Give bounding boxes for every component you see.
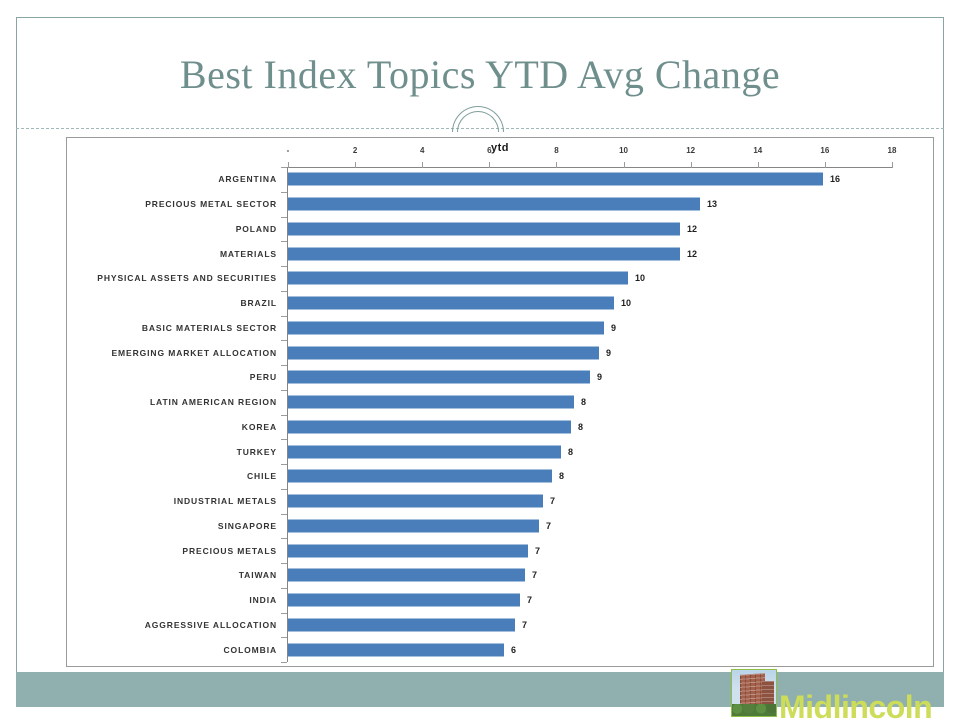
bar — [288, 247, 680, 260]
y-axis-tick — [281, 365, 287, 366]
bar-value-label: 9 — [597, 372, 602, 382]
y-axis-tick — [281, 390, 287, 391]
brand-name: Midlincoln — [779, 691, 932, 720]
category-label: EMERGING MARKET ALLOCATION — [111, 348, 277, 358]
bar — [288, 618, 515, 631]
category-label: BRAZIL — [240, 298, 277, 308]
bar-value-label: 8 — [578, 422, 583, 432]
x-axis-tick-label: 6 — [487, 146, 491, 155]
x-axis-tick-label: 16 — [820, 146, 829, 155]
bar-value-label: 6 — [511, 645, 516, 655]
x-axis-tick — [825, 162, 826, 168]
y-axis-line — [287, 167, 288, 662]
page-title: Best Index Topics YTD Avg Change — [180, 51, 780, 98]
bar — [288, 297, 614, 310]
x-axis-tick-label: 14 — [753, 146, 762, 155]
x-axis-tick — [556, 162, 557, 168]
y-axis-tick — [281, 217, 287, 218]
bar — [288, 445, 561, 458]
category-label: INDIA — [249, 595, 277, 605]
bar-value-label: 13 — [707, 199, 717, 209]
bar-value-label: 10 — [621, 298, 631, 308]
x-axis-tick — [489, 162, 490, 168]
y-axis-tick — [281, 662, 287, 663]
slide-canvas: Best Index Topics YTD Avg Change ytd -24… — [0, 0, 960, 720]
category-label: PRECIOUS METAL SECTOR — [145, 199, 277, 209]
building-photo-icon — [731, 669, 777, 717]
bar-value-label: 9 — [611, 323, 616, 333]
category-label: INDUSTRIAL METALS — [174, 496, 277, 506]
category-label: PERU — [250, 372, 277, 382]
bar — [288, 544, 528, 557]
category-label: LATIN AMERICAN REGION — [150, 397, 277, 407]
bar-value-label: 12 — [687, 224, 697, 234]
chart-plot-area: -24681012141618ARGENTINA16PRECIOUS METAL… — [67, 138, 933, 666]
y-axis-tick — [281, 316, 287, 317]
bar — [288, 519, 539, 532]
bar-value-label: 7 — [535, 546, 540, 556]
bar — [288, 396, 574, 409]
bar — [288, 420, 571, 433]
category-label: TAIWAN — [239, 570, 277, 580]
bar — [288, 371, 590, 384]
bar-value-label: 8 — [581, 397, 586, 407]
x-axis-tick — [355, 162, 356, 168]
bar-value-label: 7 — [532, 570, 537, 580]
y-axis-tick — [281, 538, 287, 539]
y-axis-tick — [281, 489, 287, 490]
bar — [288, 272, 628, 285]
category-label: MATERIALS — [220, 249, 277, 259]
category-label: ARGENTINA — [218, 174, 277, 184]
x-axis-tick — [422, 162, 423, 168]
y-axis-tick — [281, 291, 287, 292]
x-axis-tick-label: 4 — [420, 146, 424, 155]
category-label: PHYSICAL ASSETS AND SECURITIES — [97, 273, 277, 283]
bar — [288, 222, 680, 235]
y-axis-tick — [281, 415, 287, 416]
bar — [288, 569, 525, 582]
y-axis-tick — [281, 563, 287, 564]
brand-logo: Midlincoln — [731, 669, 932, 717]
bar — [288, 173, 823, 186]
bar-value-label: 7 — [546, 521, 551, 531]
bar-value-label: 8 — [568, 447, 573, 457]
trees-shape — [732, 704, 776, 716]
bar — [288, 346, 599, 359]
chart-container: ytd -24681012141618ARGENTINA16PRECIOUS M… — [66, 137, 934, 667]
y-axis-tick — [281, 340, 287, 341]
x-axis-tick — [691, 162, 692, 168]
category-label: KOREA — [242, 422, 277, 432]
x-axis-tick — [288, 162, 289, 168]
y-axis-tick — [281, 613, 287, 614]
x-axis-tick-label: 2 — [353, 146, 357, 155]
y-axis-tick — [281, 167, 287, 168]
x-axis-line — [287, 167, 892, 168]
x-axis-tick-label: 12 — [686, 146, 695, 155]
bar-value-label: 9 — [606, 348, 611, 358]
bar-value-label: 7 — [527, 595, 532, 605]
bar-value-label: 8 — [559, 471, 564, 481]
y-axis-tick — [281, 464, 287, 465]
bar — [288, 198, 700, 211]
bar — [288, 321, 604, 334]
bar-value-label: 10 — [635, 273, 645, 283]
y-axis-tick — [281, 439, 287, 440]
x-axis-tick-label: 18 — [888, 146, 897, 155]
y-axis-tick — [281, 241, 287, 242]
bar — [288, 594, 520, 607]
x-axis-tick-label: 8 — [554, 146, 558, 155]
x-axis-tick — [624, 162, 625, 168]
category-label: BASIC MATERIALS SECTOR — [142, 323, 277, 333]
category-label: TURKEY — [237, 447, 277, 457]
x-axis-tick-label: - — [287, 146, 290, 155]
bar — [288, 470, 552, 483]
category-label: PRECIOUS METALS — [182, 546, 277, 556]
bar — [288, 495, 543, 508]
category-label: CHILE — [247, 471, 277, 481]
y-axis-tick — [281, 588, 287, 589]
bar-value-label: 7 — [550, 496, 555, 506]
y-axis-tick — [281, 514, 287, 515]
y-axis-tick — [281, 637, 287, 638]
category-label: SINGAPORE — [218, 521, 277, 531]
y-axis-tick — [281, 192, 287, 193]
x-axis-tick — [892, 162, 893, 168]
bar-value-label: 7 — [522, 620, 527, 630]
bar — [288, 643, 504, 656]
category-label: AGGRESSIVE ALLOCATION — [145, 620, 277, 630]
bar-value-label: 16 — [830, 174, 840, 184]
category-label: COLOMBIA — [224, 645, 277, 655]
bar-value-label: 12 — [687, 249, 697, 259]
x-axis-tick — [758, 162, 759, 168]
y-axis-tick — [281, 266, 287, 267]
x-axis-tick-label: 10 — [619, 146, 628, 155]
category-label: POLAND — [236, 224, 277, 234]
